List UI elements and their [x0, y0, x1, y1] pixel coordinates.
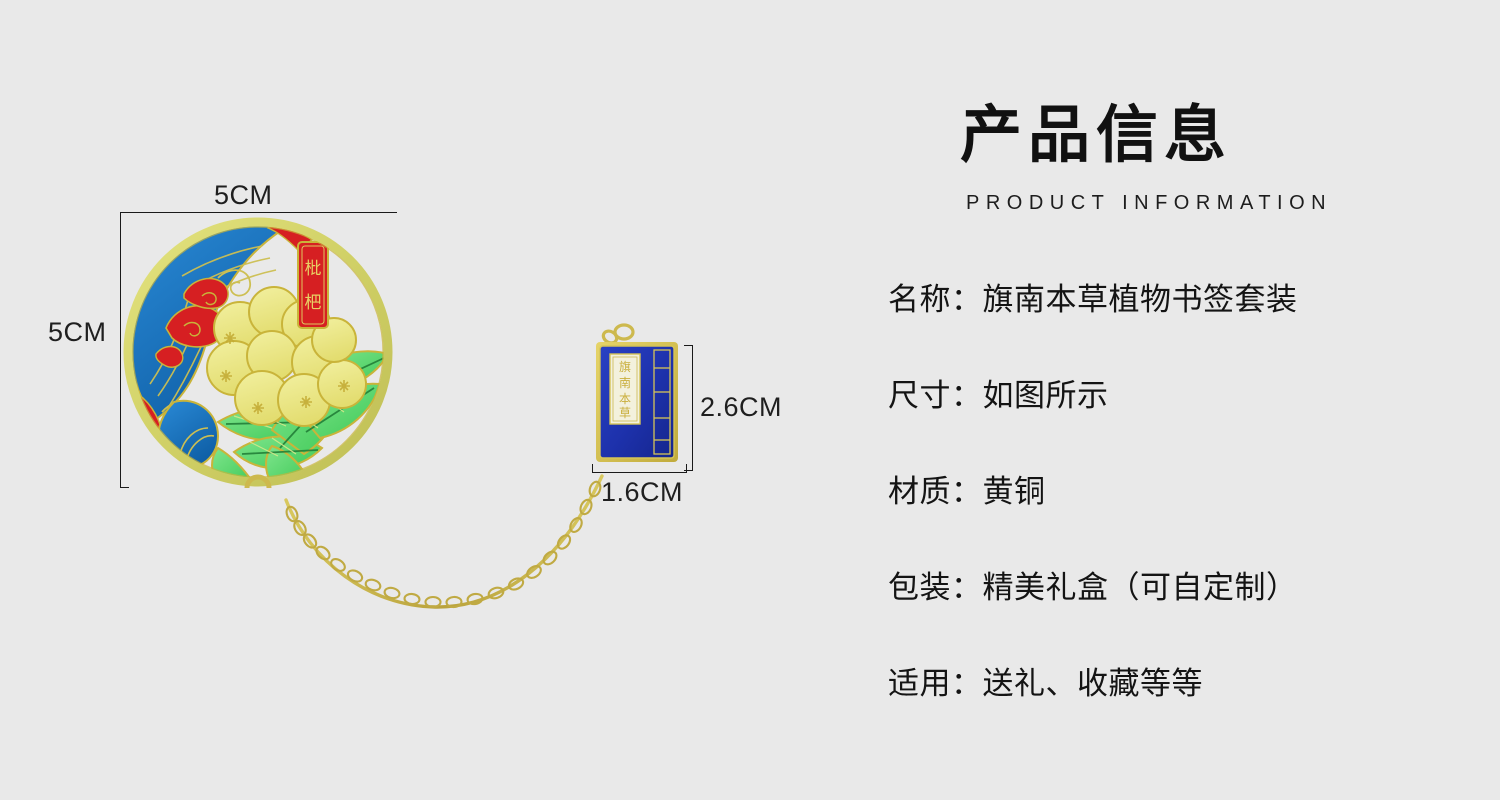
connecting-chain: [250, 470, 650, 640]
product-information-panel: 产品信息 PRODUCT INFORMATION 名称：旗南本草植物书签套装 尺…: [884, 0, 1500, 800]
measure-line-pendant-vertical: [692, 345, 693, 470]
spec-row-material: 材质：黄铜: [884, 440, 1500, 536]
plaque-char-1: 枇: [305, 259, 322, 278]
product-image-area: 5CM 5CM: [0, 0, 860, 800]
round-loquat-bookmark: 枇 杷: [122, 216, 394, 488]
plaque-pipa: 枇 杷: [298, 242, 328, 328]
spec-text-packaging: 包装：精美礼盒（可自定制）: [888, 562, 1298, 607]
spec-row-usage: 适用：送礼、收藏等等: [884, 632, 1500, 728]
spec-row-name: 名称：旗南本草植物书签套装: [884, 248, 1500, 344]
measure-label-pendant-width: 1.6CM: [601, 477, 683, 508]
measure-label-width-5cm: 5CM: [214, 180, 273, 211]
measure-line-pendant-horizontal: [592, 472, 686, 473]
book-pendant: 旗 南 本 草: [588, 318, 686, 478]
measure-line-top-horizontal: [120, 212, 397, 213]
measure-label-pendant-height: 2.6CM: [700, 392, 782, 423]
measure-tick-pendant-right: [686, 464, 687, 473]
svg-text:南: 南: [619, 375, 631, 390]
svg-text:本: 本: [619, 392, 631, 406]
book-title-text: 旗 南 本 草: [619, 359, 631, 420]
page-subtitle: PRODUCT INFORMATION: [966, 192, 1332, 215]
spec-row-packaging: 包装：精美礼盒（可自定制）: [884, 536, 1500, 632]
svg-text:草: 草: [619, 406, 631, 420]
page-title: 产品信息: [960, 105, 1232, 167]
measure-line-left-vertical: [120, 212, 121, 488]
measure-label-height-5cm: 5CM: [48, 317, 107, 348]
measure-tick-pendant-top: [684, 345, 693, 346]
svg-text:旗: 旗: [619, 359, 631, 374]
spec-text-material: 材质：黄铜: [888, 466, 1046, 511]
spec-list: 名称：旗南本草植物书签套装 尺寸：如图所示 材质：黄铜 包装：精美礼盒（可自定制…: [884, 248, 1500, 728]
spec-text-name: 名称：旗南本草植物书签套装: [888, 274, 1298, 319]
spec-text-usage: 适用：送礼、收藏等等: [888, 658, 1203, 703]
product-info-page: 5CM 5CM: [0, 0, 1500, 800]
plaque-char-2: 杷: [305, 293, 322, 312]
spec-row-size: 尺寸：如图所示: [884, 344, 1500, 440]
spec-text-size: 尺寸：如图所示: [888, 370, 1109, 415]
measure-tick-pendant-left: [592, 464, 593, 473]
